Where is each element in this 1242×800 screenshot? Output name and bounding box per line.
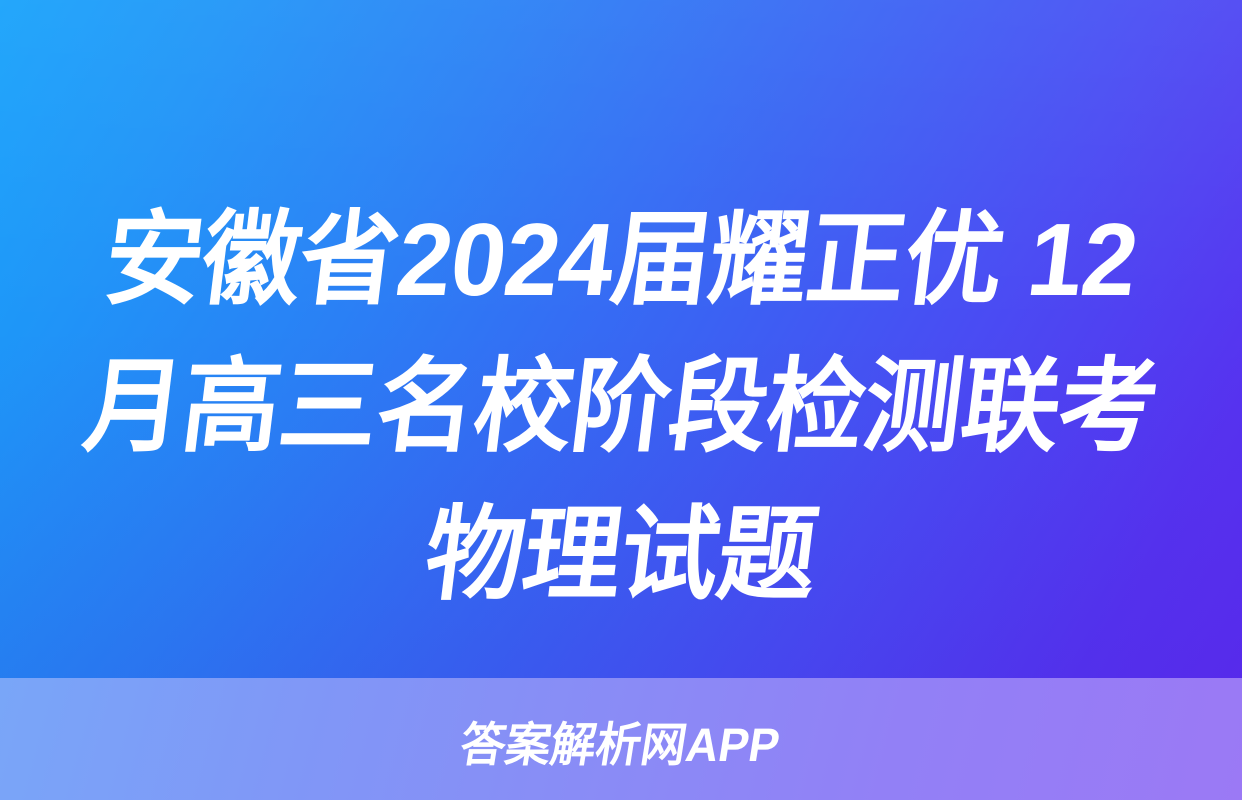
page-title-line-2: 月高三名校阶段检测联考 — [19, 333, 1223, 480]
footer-watermark-band: 答案解析网APP — [0, 678, 1242, 800]
exam-cover-card: 安徽省2024届耀正优 12 月高三名校阶段检测联考 物理试题 答案解析网APP — [0, 0, 1242, 800]
hero-gradient-panel: 安徽省2024届耀正优 12 月高三名校阶段检测联考 物理试题 — [0, 0, 1242, 678]
page-title-line-3: 物理试题 — [19, 481, 1223, 628]
page-title: 安徽省2024届耀正优 12 月高三名校阶段检测联考 物理试题 — [0, 186, 1242, 628]
app-watermark-label: 答案解析网APP — [456, 704, 786, 775]
page-title-line-1: 安徽省2024届耀正优 12 — [19, 186, 1223, 333]
